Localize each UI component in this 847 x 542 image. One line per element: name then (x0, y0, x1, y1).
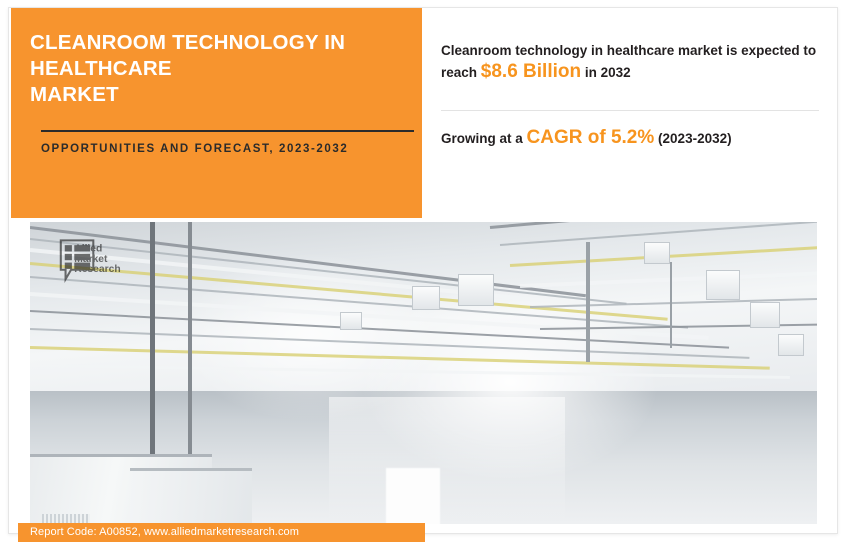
hero-image-cleanroom: Allied Market Research (30, 222, 817, 524)
stat-1-sentence: Cleanroom technology in healthcare marke… (441, 40, 819, 84)
highlight-stat-1: Cleanroom technology in healthcare marke… (441, 40, 819, 84)
support-column (188, 222, 192, 458)
report-title: CLEANROOM TECHNOLOGY IN HEALTHCARE MARKE… (30, 30, 406, 108)
title-line-3: MARKET (30, 82, 406, 108)
stat-1-suffix: in 2032 (585, 65, 631, 80)
ceiling-equipment-box (340, 312, 362, 330)
title-panel: CLEANROOM TECHNOLOGY IN HEALTHCARE MARKE… (11, 8, 422, 218)
report-cover-page: CLEANROOM TECHNOLOGY IN HEALTHCARE MARKE… (0, 0, 847, 542)
stat-2-value: CAGR of 5.2% (527, 127, 655, 148)
footer-report-code: Report Code: A00852, www.alliedmarketres… (30, 526, 299, 538)
title-line-1: CLEANROOM TECHNOLOGY IN (30, 30, 406, 56)
ceiling-equipment-box (412, 286, 440, 310)
watermark-line-3: Research (74, 264, 120, 275)
stat-1-value: $8.6 Billion (481, 61, 581, 82)
highlights-divider (441, 110, 819, 111)
footer-bar: Report Code: A00852, www.alliedmarketres… (18, 523, 425, 542)
ceiling-equipment-box (778, 334, 804, 356)
ceiling-equipment-box (644, 242, 670, 264)
watermark-line-1: Allied (74, 243, 102, 254)
watermark-line-2: Market (74, 254, 108, 265)
title-divider (41, 130, 414, 132)
support-column (586, 242, 590, 362)
highlight-stat-2: Growing at a CAGR of 5.2% (2023-2032) (441, 128, 831, 150)
ceiling-equipment-box (750, 302, 780, 328)
report-subtitle: OPPORTUNITIES AND FORECAST, 2023-2032 (41, 140, 421, 158)
stat-2-prefix: Growing at a (441, 131, 523, 146)
title-line-2: HEALTHCARE (30, 56, 406, 82)
stat-2-suffix: (2023-2032) (658, 131, 732, 146)
ceiling-equipment-box (706, 270, 740, 300)
allied-market-research-watermark: Allied Market Research (58, 238, 154, 284)
support-rod (670, 262, 672, 348)
back-wall-light (386, 468, 440, 524)
fab-tool-left-2 (130, 468, 252, 524)
ceiling-equipment-box (458, 274, 494, 306)
